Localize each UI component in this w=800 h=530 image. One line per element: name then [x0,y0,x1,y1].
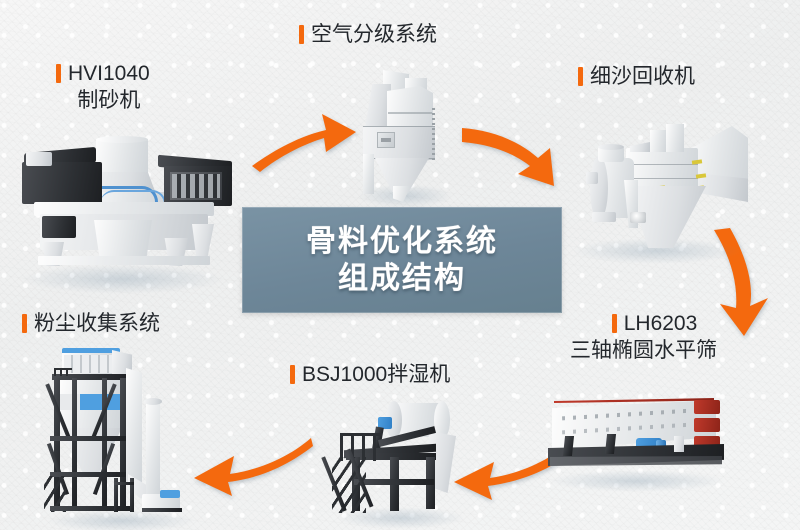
machine-fine-sand-recycler [566,120,748,258]
accent-bar-icon [612,314,617,333]
label-wet-mixer-line1: BSJ1000拌湿机 [302,363,450,386]
arrow-air-classifier-to-fine-sand-recycler [462,108,572,188]
arrow-sand-maker-to-air-classifier [250,100,360,180]
accent-bar-icon [299,25,304,44]
label-air-classifier-line1: 空气分级系统 [311,23,437,46]
accent-bar-icon [578,67,583,86]
label-sand-maker-line2: 制砂机 [56,87,150,114]
machine-wet-mixer [330,395,470,525]
machine-dust-collector [42,342,200,528]
accent-bar-icon [290,365,295,384]
label-air-classifier: 空气分级系统 [299,21,437,48]
machine-air-classifier [355,68,460,200]
label-dust-collector-line1: 粉尘收集系统 [34,312,160,335]
label-horizontal-screen: LH6203 三轴椭圆水平筛 [592,310,717,364]
accent-bar-icon [22,314,27,333]
label-fine-sand-recycler-line1: 细沙回收机 [590,65,695,88]
label-sand-maker: HVI1040 制砂机 [56,60,150,114]
center-title-line1: 骨料优化系统 [306,223,498,260]
machine-horizontal-screen [544,392,730,488]
label-horizontal-screen-line1: LH6203 [624,312,698,335]
label-wet-mixer: BSJ1000拌湿机 [290,361,450,388]
diagram-canvas: HVI1040 制砂机 空气分级系统 细沙回收机 LH6203 三轴椭圆水平筛 … [0,0,800,530]
machine-sand-maker [12,138,232,298]
center-title-line2: 组成结构 [338,260,466,297]
center-title-banner: 骨料优化系统 组成结构 [242,207,562,313]
accent-bar-icon [56,64,61,83]
label-sand-maker-line1: HVI1040 [68,62,150,85]
label-fine-sand-recycler: 细沙回收机 [578,63,695,90]
arrow-wet-mixer-to-dust-collector [188,424,313,504]
label-horizontal-screen-line2: 三轴椭圆水平筛 [570,337,717,364]
label-dust-collector: 粉尘收集系统 [22,310,160,337]
